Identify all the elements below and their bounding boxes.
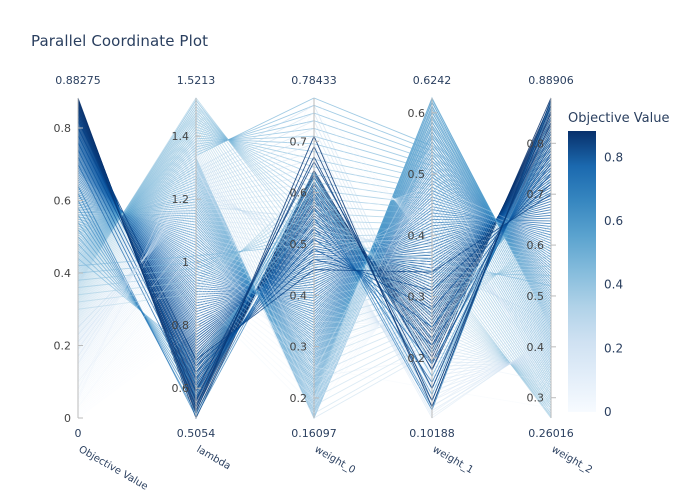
colorbar-tick-label: 0.8 [604, 150, 623, 164]
colorbar-ticks: 00.20.40.60.8 [604, 150, 623, 419]
axis-tick-label: 1 [182, 256, 189, 269]
axis-tick-label: 0.6 [408, 107, 426, 120]
axis-bottom-value-Objective Value: 0 [75, 427, 82, 440]
axis-tick-label: 0.4 [527, 341, 545, 354]
axis-name-weight_0[interactable]: weight_0 [313, 444, 358, 476]
colorbar-tick-label: 0.2 [604, 341, 623, 355]
axis-bottom-value-weight_2: 0.26016 [528, 427, 574, 440]
axis-tick-label: 0.6 [527, 239, 545, 252]
axis-bottom-value-weight_0: 0.16097 [291, 427, 337, 440]
colorbar-tick-label: 0.4 [604, 278, 623, 292]
axis-tick-label: 0.5 [527, 290, 545, 303]
axis-tick-label: 0.8 [54, 122, 72, 135]
plot-canvas[interactable]: 00.20.40.60.80.882750Objective Value0.60… [0, 0, 700, 500]
axis-name-Objective Value[interactable]: Objective Value [77, 444, 150, 493]
axis-top-value-weight_1: 0.6242 [413, 74, 452, 87]
colorbar-tick-label: 0 [604, 405, 612, 419]
axis-tick-label: 0.8 [172, 319, 190, 332]
axis-tick-label: 0.3 [408, 291, 426, 304]
colorbar: 00.20.40.60.8 [568, 131, 623, 419]
axis-tick-label: 0.5 [408, 168, 426, 181]
colorbar-title: Objective Value [568, 111, 669, 126]
axis-tick-label: 0.8 [527, 137, 545, 150]
axis-tick-label: 0.3 [290, 341, 308, 354]
colorbar-gradient [568, 131, 596, 412]
axis-name-weight_1[interactable]: weight_1 [431, 444, 476, 476]
axis-tick-label: 1.2 [172, 193, 190, 206]
axis-tick-label: 0.2 [290, 392, 308, 405]
axis-tick-label: 0.7 [527, 188, 545, 201]
axis-top-value-weight_2: 0.88906 [528, 74, 574, 87]
axis-tick-label: 0.3 [527, 392, 545, 405]
axis-tick-label: 0.7 [290, 135, 308, 148]
axis-tick-label: 0.5 [290, 238, 308, 251]
colorbar-tick-label: 0.6 [604, 214, 623, 228]
axis-tick-label: 1.4 [172, 130, 190, 143]
parallel-coordinate-plot-page: Parallel Coordinate Plot 00.20.40.60.80.… [0, 0, 700, 500]
axis-top-value-weight_0: 0.78433 [291, 74, 337, 87]
axis-tick-label: 0.6 [54, 194, 72, 207]
axis-tick-label: 0.2 [408, 352, 426, 365]
axis-tick-label: 0 [64, 412, 71, 425]
axis-bottom-value-lambda: 0.5054 [177, 427, 216, 440]
axis-tick-label: 0.6 [290, 187, 308, 200]
axis-tick-label: 0.6 [172, 382, 190, 395]
axis-tick-label: 0.4 [290, 289, 308, 302]
axis-top-value-lambda: 1.5213 [177, 74, 216, 87]
axis-bottom-value-weight_1: 0.10188 [409, 427, 455, 440]
axis-name-weight_2[interactable]: weight_2 [550, 444, 595, 476]
axis-tick-label: 0.4 [54, 267, 72, 280]
axis-top-value-Objective Value: 0.88275 [55, 74, 101, 87]
axis-tick-label: 0.4 [408, 229, 426, 242]
axis-tick-label: 0.2 [54, 339, 72, 352]
axis-name-lambda[interactable]: lambda [195, 444, 233, 472]
